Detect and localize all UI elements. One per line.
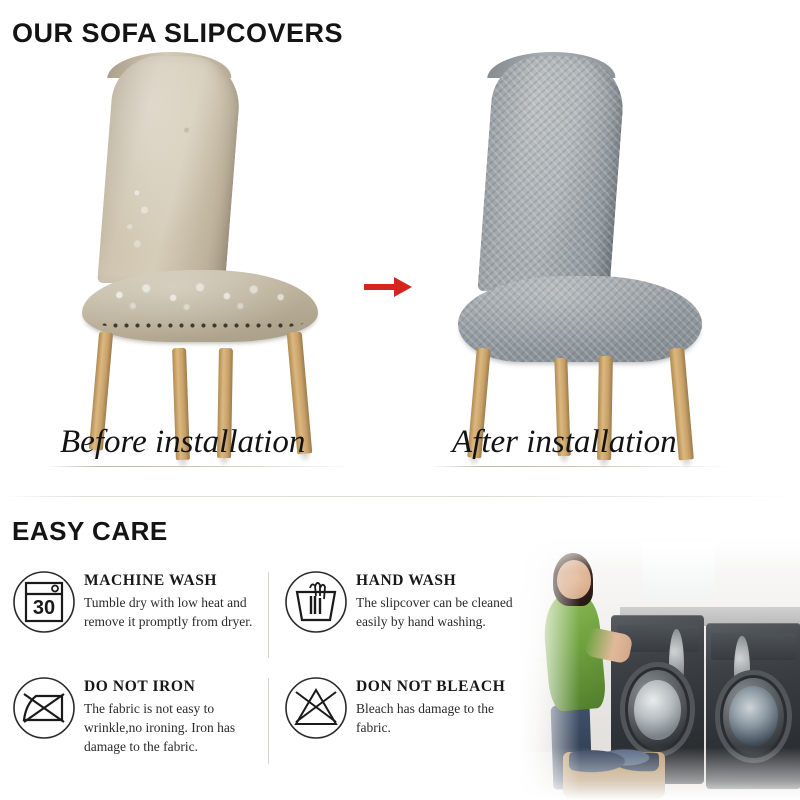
- laundry-room-photo: [518, 536, 800, 800]
- care-text: MACHINE WASH Tumble dry with low heat an…: [84, 568, 256, 631]
- before-caption-underline: [44, 466, 356, 467]
- dryer-control-panel: [711, 633, 795, 660]
- page-title: OUR SOFA SLIPCOVERS: [12, 18, 343, 49]
- before-after-comparison: [0, 48, 800, 468]
- before-caption: Before installation: [60, 424, 305, 461]
- dryer-door: [715, 670, 792, 763]
- care-item-do-not-iron: DO NOT IRON The fabric is not easy to wr…: [12, 674, 262, 756]
- care-text: DO NOT IRON The fabric is not easy to wr…: [84, 674, 256, 756]
- care-item-body: The slipcover can be cleaned easily by h…: [356, 593, 528, 631]
- after-chair-backrest: [477, 55, 626, 293]
- care-item-title: MACHINE WASH: [84, 572, 256, 590]
- easy-care-title: EASY CARE: [12, 516, 168, 547]
- after-chair-seat-slipcover: [458, 276, 702, 362]
- care-item-do-not-bleach: DON NOT BLEACH Bleach has damage to the …: [284, 674, 534, 740]
- right-arrow-icon: [362, 270, 414, 300]
- do-not-bleach-icon: [284, 676, 348, 740]
- care-item-title: HAND WASH: [356, 572, 528, 590]
- clothes-dryer: [706, 623, 800, 789]
- product-infographic: OUR SOFA SLIPCOVERS: [0, 0, 800, 800]
- after-caption-underline: [430, 466, 730, 467]
- care-item-body: Bleach has damage to the fabric.: [356, 699, 528, 737]
- dryer-door-glass: [729, 686, 778, 746]
- care-item-body: Tumble dry with low heat and remove it p…: [84, 593, 256, 631]
- care-item-machine-wash: 30 MACHINE WASH Tumble dry with low heat…: [12, 568, 262, 634]
- machine-wash-icon: 30: [12, 570, 76, 634]
- care-instructions-grid: 30 MACHINE WASH Tumble dry with low heat…: [8, 568, 528, 780]
- section-divider: [0, 496, 800, 497]
- before-chair-backrest: [97, 55, 243, 285]
- laundry-clothes-pile: [569, 739, 659, 776]
- photo-background: [518, 536, 800, 800]
- wash-temperature-label: 30: [33, 597, 55, 619]
- care-text: HAND WASH The slipcover can be cleaned e…: [356, 568, 528, 631]
- do-not-iron-icon: [12, 676, 76, 740]
- washer-door-glass: [634, 680, 682, 741]
- laundry-window: [642, 541, 715, 599]
- care-item-title: DO NOT IRON: [84, 678, 256, 696]
- after-caption: After installation: [452, 424, 677, 461]
- hand-wash-icon: [284, 570, 348, 634]
- care-item-title: DON NOT BLEACH: [356, 678, 528, 696]
- woman-head: [557, 560, 591, 600]
- care-text: DON NOT BLEACH Bleach has damage to the …: [356, 674, 528, 737]
- before-chair-image: [78, 56, 328, 456]
- after-chair-image: [452, 56, 708, 456]
- care-item-body: The fabric is not easy to wrinkle,no iro…: [84, 699, 256, 756]
- care-item-hand-wash: HAND WASH The slipcover can be cleaned e…: [284, 568, 534, 634]
